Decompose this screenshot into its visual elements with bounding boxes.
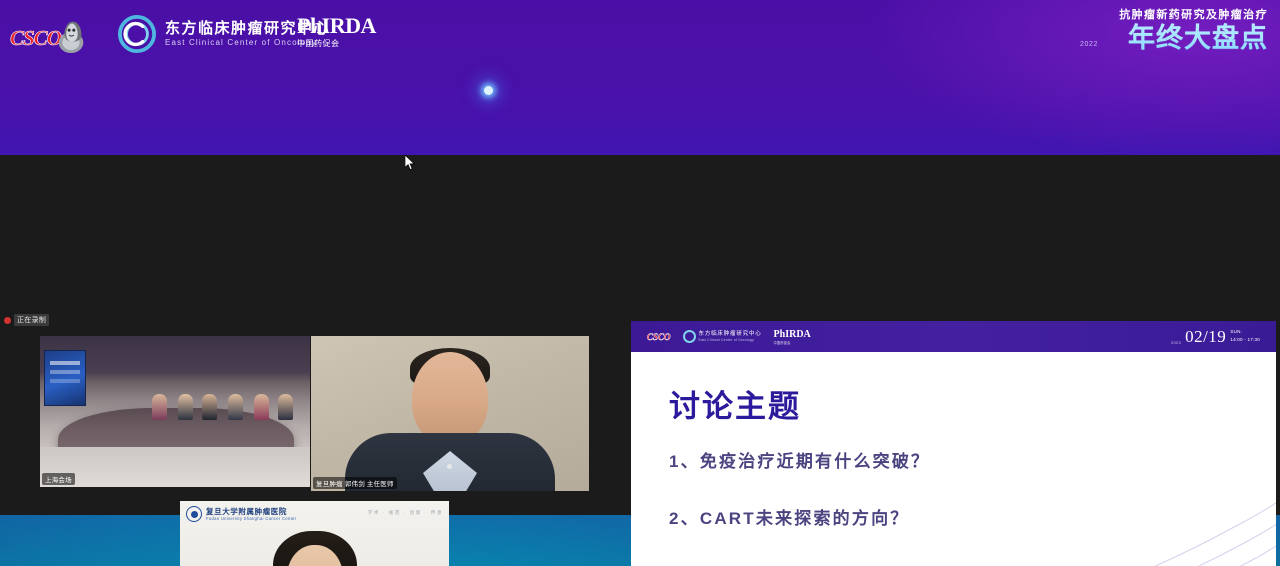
- slide-ecco-circle-icon: [683, 330, 696, 343]
- slide-date: 02/19: [1185, 328, 1226, 345]
- slide-header-logos: CSCO 东方临床肿瘤研究中心 East Clinical Center of …: [631, 329, 811, 345]
- slide-topic-item: 2、CART未来探索的方向？: [669, 509, 1229, 529]
- hospital-name-en: Fudan University Shanghai Cancer Center: [206, 516, 296, 522]
- room-backdrop-banner: [44, 350, 86, 406]
- slide-ecco-logo: 东方临床肿瘤研究中心 East Clinical Center of Oncol…: [683, 330, 762, 343]
- hospital-slogan: 学术 · 规范 · 创新 · 传承: [368, 510, 443, 516]
- video-tile-active-speaker[interactable]: 复旦肿瘤 郭伟剑 主任医师: [311, 336, 589, 491]
- room-person: [278, 394, 293, 420]
- record-dot-icon: [4, 317, 11, 324]
- csco-logo: CSCO: [10, 12, 90, 56]
- event-title-block: 抗肿瘤新药研究及肿瘤治疗 年终大盘点 2022: [1068, 8, 1268, 54]
- room-person: [254, 394, 269, 420]
- phirda-logo-text: PhIRDA: [297, 14, 371, 38]
- slide-topic-item: 1、免疫治疗近期有什么突破？: [669, 452, 1229, 472]
- video-tile-nametag: 上海会场: [42, 473, 75, 485]
- phirda-logo-subtext: 中国药促会: [297, 38, 371, 49]
- slide-time-range: 14:00 - 17:30: [1230, 337, 1260, 345]
- room-person: [152, 394, 167, 420]
- hospital-logo: 复旦大学附属肿瘤医院 Fudan University Shanghai Can…: [186, 506, 296, 522]
- event-year-tag: 2022: [1080, 41, 1098, 48]
- room-person: [228, 394, 243, 420]
- ecco-circle-icon: [118, 15, 156, 53]
- slide-csco-logo: CSCO: [647, 332, 671, 342]
- video-tile-conference-room[interactable]: 上海会场: [40, 336, 310, 487]
- shared-screen-slide[interactable]: CSCO 东方临床肿瘤研究中心 East Clinical Center of …: [631, 321, 1276, 566]
- speaker-face: [412, 352, 488, 444]
- slide-body: 讨论主题 1、免疫治疗近期有什么突破？ 2、CART未来探索的方向？ 3、HER…: [631, 352, 1276, 566]
- slide-topic-list: 1、免疫治疗近期有什么突破？ 2、CART未来探索的方向？ 3、HER-2ADC…: [669, 452, 1229, 566]
- slide-phirda-subtext: 中国药促会: [774, 340, 811, 345]
- event-subtitle: 抗肿瘤新药研究及肿瘤治疗: [1068, 8, 1268, 23]
- slide-header: CSCO 东方临床肿瘤研究中心 East Clinical Center of …: [631, 321, 1276, 352]
- phirda-logo: PhIRDA 中国药促会: [297, 14, 371, 56]
- slide-phirda-text: PhIRDA: [774, 329, 811, 340]
- slide-date-block: 2023 02/19 SUN. 14:00 - 17:30: [1171, 328, 1276, 345]
- slide-year: 2023: [1171, 341, 1181, 345]
- recording-label: 正在录制: [14, 314, 49, 326]
- slide-ecco-name-en: East Clinical Center of Oncology: [699, 338, 762, 343]
- csco-seal-icon: [52, 14, 90, 54]
- room-person: [178, 394, 193, 420]
- room-floor: [40, 447, 310, 487]
- hospital-logo-icon: [186, 506, 202, 522]
- recording-indicator[interactable]: 正在录制: [4, 314, 49, 326]
- slide-ecco-name-cn: 东方临床肿瘤研究中心: [699, 331, 762, 338]
- event-main-title: 年终大盘点: [1068, 23, 1268, 54]
- hospital-name-cn: 复旦大学附属肿瘤医院: [206, 507, 296, 516]
- star-glow-decoration: [484, 86, 493, 95]
- slide-phirda-logo: PhIRDA 中国药促会: [774, 329, 811, 345]
- top-banner: CSCO 东方临床肿瘤研究中心 East Clinical Center of …: [0, 0, 1280, 70]
- room-person: [202, 394, 217, 420]
- slide-weekday: SUN.: [1230, 329, 1260, 337]
- speaker-lapel-mic: [447, 464, 452, 469]
- mouse-cursor: [405, 155, 416, 171]
- video-tile-nametag: 复旦肿瘤 郭伟剑 主任医师: [313, 477, 397, 489]
- video-tile-doctor[interactable]: 复旦大学附属肿瘤医院 Fudan University Shanghai Can…: [180, 501, 449, 566]
- slide-time-block: SUN. 14:00 - 17:30: [1230, 329, 1260, 345]
- meeting-window: 上海会场 复旦肿瘤 郭伟剑 主任医师 复旦大学附属肿瘤医院 Fudan Univ…: [0, 155, 1280, 515]
- screen: CSCO 东方临床肿瘤研究中心 East Clinical Center of …: [0, 0, 1280, 566]
- slide-title: 讨论主题: [669, 381, 801, 426]
